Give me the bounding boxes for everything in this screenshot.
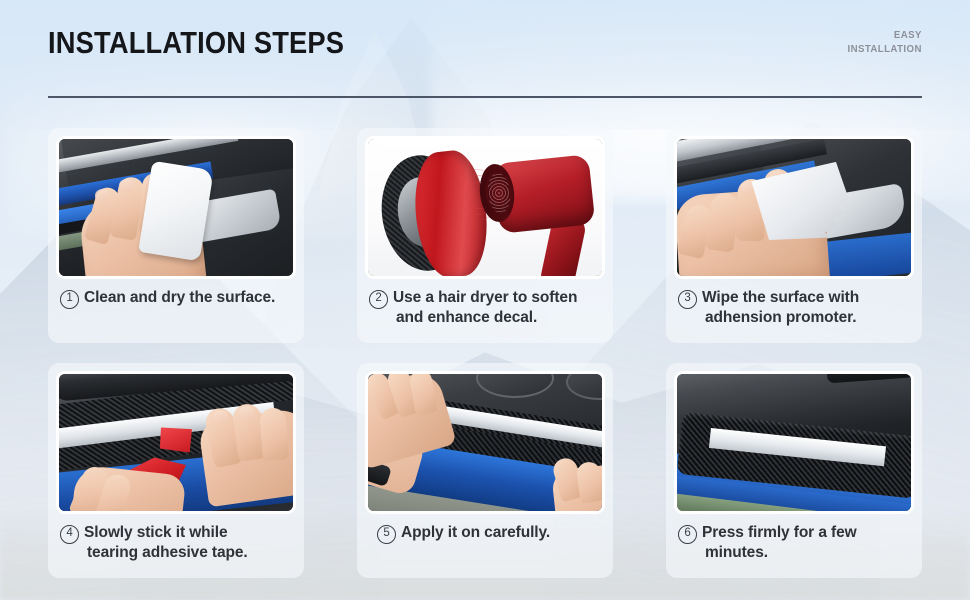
steps-grid: 1 Clean and dry the surface. xyxy=(48,128,922,578)
step-text-2-line-2: and enhance decal. xyxy=(393,308,603,328)
step-text-2: Use a hair dryer to soften and enhance d… xyxy=(393,288,603,327)
header-tagline-line-2: INSTALLATION xyxy=(848,42,922,56)
step-photo-5 xyxy=(365,371,605,514)
step-text-2-line-1: Use a hair dryer to soften xyxy=(393,289,577,306)
step-number-badge-4: 4 xyxy=(60,525,79,544)
step-number-badge-2: 2 xyxy=(369,290,388,309)
step-number-badge-6: 6 xyxy=(678,525,697,544)
step-text-3: Wipe the surface with adhension promoter… xyxy=(702,288,912,327)
step-text-6: Press firmly for a few minutes. xyxy=(702,523,912,562)
step-card-2: 2 Use a hair dryer to soften and enhance… xyxy=(357,128,613,343)
header-divider-rule xyxy=(48,96,922,98)
step-card-5: 5 Apply it on carefully. xyxy=(357,363,613,578)
step-card-1: 1 Clean and dry the surface. xyxy=(48,128,304,343)
step-card-6: 6 Press firmly for a few minutes. xyxy=(666,363,922,578)
step-number-badge-1: 1 xyxy=(60,290,79,309)
step-number-badge-5: 5 xyxy=(377,525,396,544)
step-text-1: Clean and dry the surface. xyxy=(84,288,294,308)
step-card-4: 4 Slowly stick it while tearing adhesive… xyxy=(48,363,304,578)
page-title: INSTALLATION STEPS xyxy=(48,26,344,60)
step-card-3: 3 Wipe the surface with adhension promot… xyxy=(666,128,922,343)
step-text-3-line-1: Wipe the surface with xyxy=(702,289,859,306)
step-text-5: Apply it on carefully. xyxy=(401,523,603,543)
installation-steps-infographic: INSTALLATION STEPS EASY INSTALLATION xyxy=(0,0,970,600)
header-tagline: EASY INSTALLATION xyxy=(848,28,922,56)
step-text-4: Slowly stick it while tearing adhesive t… xyxy=(84,523,294,562)
step-caption-1: 1 Clean and dry the surface. xyxy=(56,288,296,309)
header-tagline-line-1: EASY xyxy=(848,28,922,42)
step-photo-2 xyxy=(365,136,605,279)
step-caption-5: 5 Apply it on carefully. xyxy=(365,523,605,544)
step-caption-2: 2 Use a hair dryer to soften and enhance… xyxy=(365,288,605,327)
step-text-3-line-2: adhension promoter. xyxy=(702,308,912,328)
step-photo-3 xyxy=(674,136,914,279)
step-text-6-line-2: minutes. xyxy=(702,543,912,563)
step-photo-1 xyxy=(56,136,296,279)
step-text-4-line-2: tearing adhesive tape. xyxy=(84,543,294,563)
step-text-6-line-1: Press firmly for a few xyxy=(702,524,857,541)
step-caption-4: 4 Slowly stick it while tearing adhesive… xyxy=(56,523,296,562)
step-caption-3: 3 Wipe the surface with adhension promot… xyxy=(674,288,914,327)
step-caption-6: 6 Press firmly for a few minutes. xyxy=(674,523,914,562)
step-text-4-line-1: Slowly stick it while xyxy=(84,524,227,541)
step-number-badge-3: 3 xyxy=(678,290,697,309)
step-photo-6 xyxy=(674,371,914,514)
step-photo-4 xyxy=(56,371,296,514)
page-header: INSTALLATION STEPS EASY INSTALLATION xyxy=(0,0,970,110)
